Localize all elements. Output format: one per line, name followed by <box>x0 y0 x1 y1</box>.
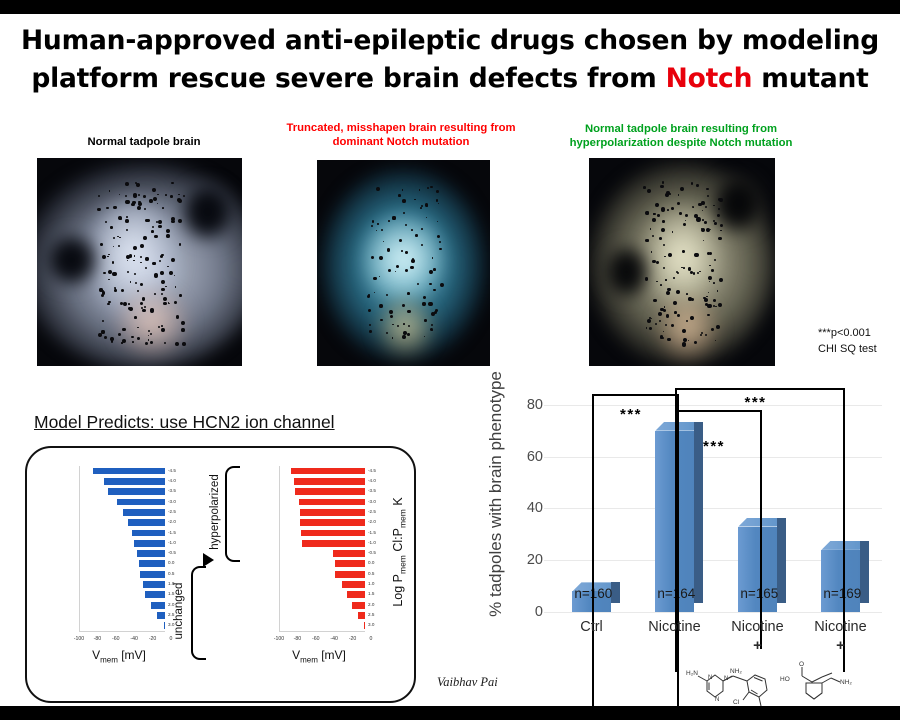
page-title: Human-approved anti-epileptic drugs chos… <box>0 22 900 97</box>
mini-bar-label: -4.5 <box>368 468 376 473</box>
mini-bar <box>352 602 365 609</box>
chart-y-tick: 80 <box>527 397 543 413</box>
mini-bar <box>132 530 165 537</box>
mini-bar-label: 1.0 <box>368 581 374 586</box>
mini-bar-row: -1.0 <box>80 540 165 547</box>
mini-bar-row: 0.5 <box>280 571 365 578</box>
mini-bar <box>128 519 165 526</box>
mini-xtick: 0 <box>170 636 173 642</box>
mini-bar-row: 2.5 <box>280 612 365 619</box>
model-predicts-heading: Model Predicts: use HCN2 ion channel <box>34 412 335 433</box>
category-name: Nicotine <box>814 619 866 635</box>
chart-y-axis-label: % tadpoles with brain phenotype <box>486 371 506 617</box>
mini-bar <box>291 468 365 475</box>
mini-bar-row: -3.5 <box>280 488 365 495</box>
mini-bar <box>134 540 165 547</box>
mini-bar-label: -3.0 <box>368 499 376 504</box>
mini-bar <box>294 478 365 485</box>
mini-bar-label: 3.0 <box>368 622 374 627</box>
mini-bar <box>93 468 165 475</box>
significance-bracket <box>592 394 679 706</box>
chart-y-tick: 0 <box>535 604 543 620</box>
svg-text:NH₂: NH₂ <box>730 668 742 675</box>
mini-bar-label: -4.0 <box>168 478 176 483</box>
mini-bar-row: 2.0 <box>280 602 365 609</box>
brain-phenotype-bar-chart: % tadpoles with brain phenotype 02040608… <box>486 372 896 702</box>
mini-bar-label: -1.0 <box>368 540 376 545</box>
mini-bar-row: 2.5 <box>80 612 165 619</box>
brace-label-unchanged: unchanged <box>173 583 185 640</box>
mini-bar-row: 1.5 <box>280 591 365 598</box>
caption-notch-mutant-brain: Truncated, misshapen brain resulting fro… <box>276 121 526 150</box>
category-plus: + <box>712 637 804 656</box>
title-line-2-pre: platform rescue severe brain defects fro… <box>31 63 665 94</box>
mini-bar <box>151 602 165 609</box>
mini-bar-row: -4.5 <box>280 468 365 475</box>
test-name-text: CHI SQ test <box>818 342 877 358</box>
pigment-dots <box>317 160 490 366</box>
mini-bar-label: -4.5 <box>168 468 176 473</box>
mini-bar <box>143 581 165 588</box>
mini-bar-label: 0.0 <box>168 560 174 565</box>
mini-xtick: -60 <box>112 636 120 642</box>
title-line-2-post: mutant <box>752 63 868 94</box>
mini-bar-label: 2.0 <box>368 602 374 607</box>
mini-bar-row: -1.5 <box>280 530 365 537</box>
mini-bar <box>123 509 165 516</box>
mini-xtick: -20 <box>149 636 157 642</box>
mini-bar-row: -2.5 <box>280 509 365 516</box>
mini-bar <box>139 560 165 567</box>
micrograph-normal-tadpole-brain <box>37 158 242 366</box>
mini-bar <box>342 581 365 588</box>
mini-xtick: -20 <box>349 636 357 642</box>
brace-hyperpolarized <box>225 466 240 562</box>
svg-text:Cl: Cl <box>733 699 740 706</box>
mini-bar <box>364 622 365 629</box>
mini-bar-row: 3.0 <box>280 622 365 629</box>
mini-bar-row: -0.5 <box>80 550 165 557</box>
mini-bar-row: -0.5 <box>280 550 365 557</box>
mini-bar-label: -2.0 <box>168 519 176 524</box>
mini-bar-row: -3.5 <box>80 488 165 495</box>
mini-bar-row: 2.0 <box>80 602 165 609</box>
caption-rescued-brain: Normal tadpole brain resulting from hype… <box>540 122 822 151</box>
mini-bar-label: 2.5 <box>368 612 374 617</box>
mini-bar-label: -0.5 <box>368 550 376 555</box>
mini-bar-row: -2.0 <box>80 519 165 526</box>
mini-bar <box>302 540 365 547</box>
mini-bar <box>301 530 365 537</box>
mini-bar-row: -4.0 <box>280 478 365 485</box>
mini-bar-row: 0.0 <box>280 560 365 567</box>
mini-right-plot: -4.5-4.0-3.5-3.0-2.5-2.0-1.5-1.0-0.50.00… <box>279 466 365 632</box>
significance-note: ***p<0.001 CHI SQ test <box>818 326 877 358</box>
mini-bar-row: 0.5 <box>80 571 165 578</box>
mini-bar <box>295 488 365 495</box>
mini-bar-row: -4.0 <box>80 478 165 485</box>
mini-bar <box>300 509 365 516</box>
mini-bar-label: 0.0 <box>368 560 374 565</box>
mini-bar-row: -3.0 <box>80 499 165 506</box>
mini-bar-row: -2.5 <box>80 509 165 516</box>
mini-bar-label: -3.5 <box>168 488 176 493</box>
mini-right-ylabel: Log Pmem Cl:Pmem K <box>391 497 408 606</box>
mini-bar-row: -4.5 <box>80 468 165 475</box>
chart-x-category: Nicotine+ <box>795 618 887 656</box>
model-panel: -4.5-4.0-3.5-3.0-2.5-2.0-1.5-1.0-0.50.00… <box>25 446 416 703</box>
mini-xtick: -80 <box>94 636 102 642</box>
category-name: Nicotine <box>648 619 700 635</box>
significance-stars: *** <box>620 406 642 423</box>
mini-bar-row: -1.5 <box>80 530 165 537</box>
mini-bar-label: 0.5 <box>368 571 374 576</box>
mini-bar-label: -3.5 <box>368 488 376 493</box>
mini-bar-row: -1.0 <box>280 540 365 547</box>
mini-bar <box>117 499 165 506</box>
mini-bar-row: 1.5 <box>80 591 165 598</box>
mini-bar-label: 1.5 <box>368 591 374 596</box>
significance-stars: *** <box>745 394 767 411</box>
chart-x-category: Ctrl <box>546 618 638 636</box>
chart-x-category: Nicotine <box>629 618 721 636</box>
svg-text:N: N <box>724 676 728 682</box>
mini-xtick: -40 <box>330 636 338 642</box>
chem-structure-gabapentin: O HO NH₂ <box>778 660 874 706</box>
p-value-text: ***p<0.001 <box>818 326 877 342</box>
brace-unchanged <box>191 566 206 660</box>
mini-bar <box>299 499 365 506</box>
mini-bar-label: -2.5 <box>168 509 176 514</box>
mini-xtick: -100 <box>74 636 84 642</box>
mini-bar-row: -3.0 <box>280 499 365 506</box>
mini-left-plot: -4.5-4.0-3.5-3.0-2.5-2.0-1.5-1.0-0.50.00… <box>79 466 165 632</box>
mini-bar <box>137 550 165 557</box>
slide-canvas: Human-approved anti-epileptic drugs chos… <box>0 14 900 706</box>
chem-structure-lamotrigine: H₂N NH₂ N N N Cl Cl <box>685 659 781 706</box>
category-name: Nicotine <box>731 619 783 635</box>
mini-bar-label: -3.0 <box>168 499 176 504</box>
pigment-dots <box>37 158 242 366</box>
mini-bar-row: 0.0 <box>80 560 165 567</box>
svg-text:N: N <box>708 675 712 681</box>
mini-bar-label: -1.0 <box>168 540 176 545</box>
pointer-triangle-icon <box>203 553 214 567</box>
pigment-dots <box>589 158 775 366</box>
svg-text:NH₂: NH₂ <box>840 679 852 686</box>
mini-bar <box>358 612 365 619</box>
caption-normal-brain: Normal tadpole brain <box>40 135 248 149</box>
mini-xtick: -100 <box>274 636 284 642</box>
chart-y-tick: 60 <box>527 449 543 465</box>
mini-bar-label: -1.5 <box>168 530 176 535</box>
chart-y-tick: 40 <box>527 500 543 516</box>
mini-bar-row: 1.0 <box>80 581 165 588</box>
mini-bar <box>347 591 365 598</box>
micrograph-rescued-brain <box>589 158 775 366</box>
svg-text:HO: HO <box>780 676 790 683</box>
mini-xtick: 0 <box>370 636 373 642</box>
title-line-1: Human-approved anti-epileptic drugs chos… <box>0 22 900 60</box>
mini-bar-row: -2.0 <box>280 519 365 526</box>
mini-right-xaxis: -100-80-60-40-200 <box>243 636 395 646</box>
category-name: Ctrl <box>580 619 603 635</box>
chart-plot-area: 020406080n=160n=164n=165n=169********* <box>550 384 882 612</box>
svg-text:O: O <box>799 661 804 668</box>
mini-bar <box>104 478 165 485</box>
mini-bar-row: 1.0 <box>280 581 365 588</box>
title-gene-notch: Notch <box>666 63 753 94</box>
mini-bar <box>145 591 165 598</box>
mini-xtick: -80 <box>294 636 302 642</box>
chart-y-tick: 20 <box>527 552 543 568</box>
mini-xtick: -40 <box>130 636 138 642</box>
mini-bar <box>300 519 365 526</box>
title-line-2: platform rescue severe brain defects fro… <box>0 60 900 98</box>
micrograph-notch-mutant-brain <box>317 160 490 366</box>
mini-xtick: -60 <box>312 636 320 642</box>
mini-bar <box>164 622 165 629</box>
category-plus: + <box>795 637 887 656</box>
mini-bar <box>108 488 165 495</box>
mini-bar <box>335 560 365 567</box>
mini-bar-label: 0.5 <box>168 571 174 576</box>
svg-text:H₂N: H₂N <box>686 670 698 677</box>
mini-right-xlabel: Vmem [mV] <box>243 648 395 664</box>
mini-bar-label: -1.5 <box>368 530 376 535</box>
mini-bar <box>157 612 165 619</box>
mini-bar <box>335 571 365 578</box>
mini-bar <box>333 550 365 557</box>
mini-bar-label: -2.5 <box>368 509 376 514</box>
mini-bar-label: -4.0 <box>368 478 376 483</box>
svg-text:N: N <box>715 697 719 703</box>
mini-bar-label: -2.0 <box>368 519 376 524</box>
mini-bar <box>140 571 166 578</box>
brace-label-hyperpolarized: hyperpolarized <box>209 474 221 549</box>
mini-chart-vmem-red: -4.5-4.0-3.5-3.0-2.5-2.0-1.5-1.0-0.50.00… <box>243 462 395 648</box>
chart-x-category: Nicotine+ <box>712 618 804 656</box>
mini-left-xlabel: Vmem [mV] <box>43 648 195 664</box>
mini-bar-row: 3.0 <box>80 622 165 629</box>
mini-bar-label: -0.5 <box>168 550 176 555</box>
